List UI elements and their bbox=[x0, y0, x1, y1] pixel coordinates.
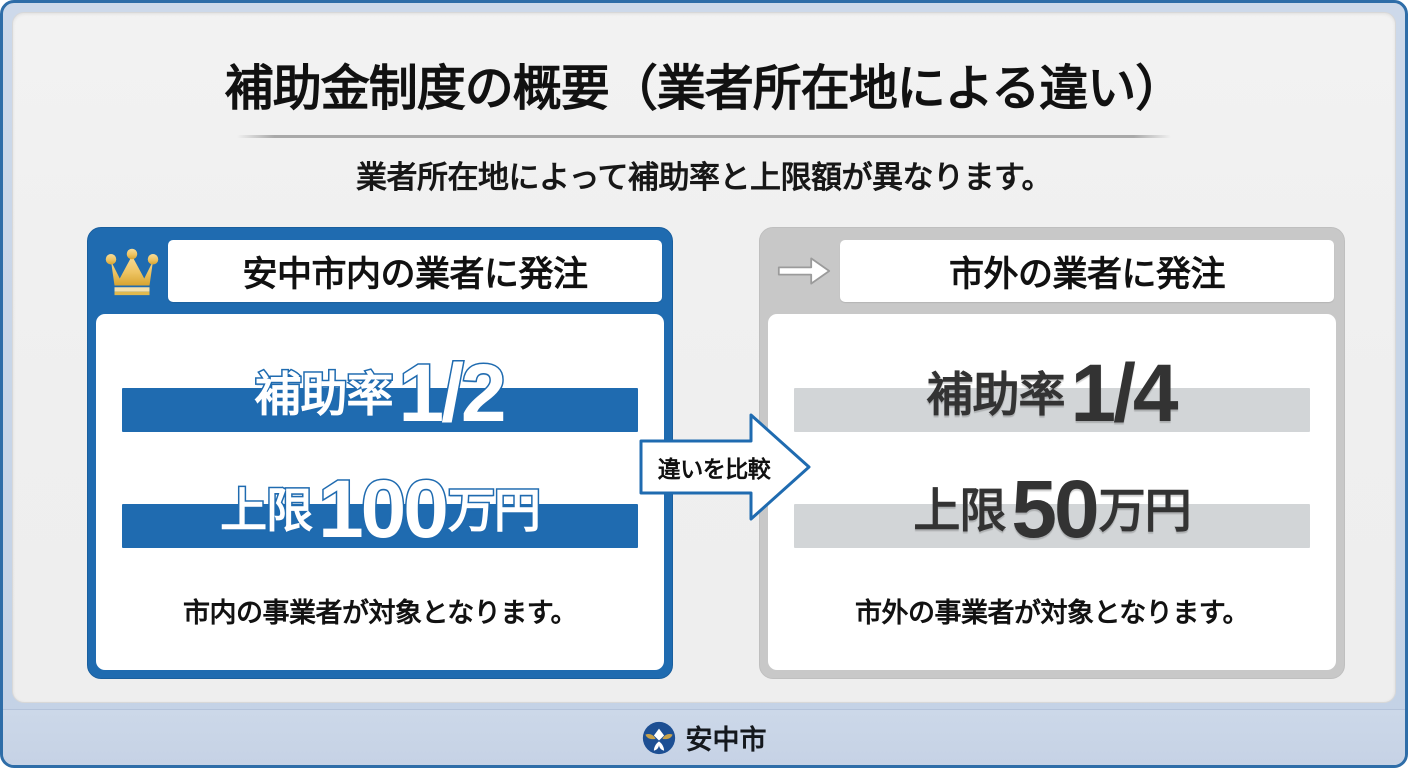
card-body-outside-city: 補助率 1/4 上限 50 万円 市外の事業者が対象となります。 bbox=[768, 314, 1336, 670]
card-header-outside-city: 市外の業者に発注 bbox=[760, 228, 1344, 314]
rate-label: 補助率 bbox=[255, 371, 393, 418]
card-outside-city: 市外の業者に発注 補助率 1/4 上限 50 万円 bbox=[759, 227, 1345, 679]
cap-value: 50 bbox=[1011, 469, 1096, 551]
card-note-outside-city: 市外の事業者が対象となります。 bbox=[768, 591, 1336, 630]
card-header-inside-city: 安中市内の業者に発注 bbox=[88, 228, 672, 314]
rate-value: 1/2 bbox=[399, 353, 504, 435]
cap-unit: 万円 bbox=[448, 487, 540, 534]
page-title: 補助金制度の概要（業者所在地による違い） bbox=[13, 49, 1395, 120]
subsidy-rate-row-inside-city: 補助率 1/2 bbox=[96, 338, 664, 450]
annaka-city-emblem-icon bbox=[642, 721, 676, 755]
cap-label: 上限 bbox=[220, 487, 312, 534]
infographic-frame: 補助金制度の概要（業者所在地による違い） 業者所在地によって補助率と上限額が異な… bbox=[0, 0, 1408, 768]
cap-label: 上限 bbox=[913, 487, 1005, 534]
card-title-inside-city: 安中市内の業者に発注 bbox=[168, 240, 662, 302]
page-subtitle: 業者所在地によって補助率と上限額が異なります。 bbox=[13, 152, 1395, 197]
cap-amount-row-outside-city: 上限 50 万円 bbox=[768, 454, 1336, 566]
card-note-inside-city: 市内の事業者が対象となります。 bbox=[96, 591, 664, 630]
card-title-outside-city: 市外の業者に発注 bbox=[840, 240, 1334, 302]
footer-city-name: 安中市 bbox=[686, 718, 767, 757]
rate-value: 1/4 bbox=[1071, 353, 1176, 435]
rate-label: 補助率 bbox=[927, 371, 1065, 418]
cap-amount-row-inside-city: 上限 100 万円 bbox=[96, 454, 664, 566]
arrow-right-icon bbox=[768, 238, 840, 304]
subsidy-rate-row-outside-city: 補助率 1/4 bbox=[768, 338, 1336, 450]
card-inside-city: 安中市内の業者に発注 補助率 1/2 上限 100 万円 bbox=[87, 227, 673, 679]
crown-icon bbox=[96, 238, 168, 304]
cap-unit: 万円 bbox=[1099, 487, 1191, 534]
footer-bar: 安中市 bbox=[3, 709, 1405, 765]
title-divider bbox=[237, 135, 1171, 138]
card-body-inside-city: 補助率 1/2 上限 100 万円 市内の事業者が対象となります。 bbox=[96, 314, 664, 670]
content-panel: 補助金制度の概要（業者所在地による違い） 業者所在地によって補助率と上限額が異な… bbox=[12, 12, 1396, 703]
comparison-arrow: 違いを比較 bbox=[639, 411, 811, 523]
cap-value: 100 bbox=[318, 469, 446, 551]
